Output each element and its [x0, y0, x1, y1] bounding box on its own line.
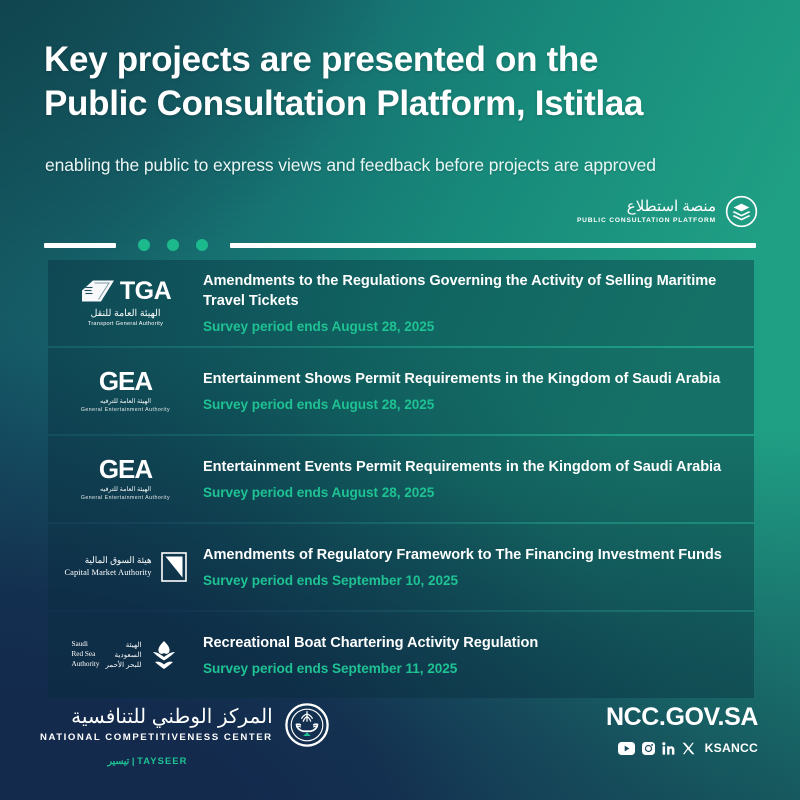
gea-wordmark: GEA	[99, 456, 152, 482]
project-row[interactable]: TGA الهيئة العامة للنقل Transport Genera…	[48, 260, 754, 346]
divider-dot	[138, 239, 150, 251]
entity-logo-cma: هيئة السوق المالية Capital Market Author…	[48, 552, 203, 582]
cma-english-name: Capital Market Authority	[64, 569, 151, 577]
social-links: KSANCC	[618, 741, 758, 755]
x-icon[interactable]	[682, 742, 695, 755]
divider-dots	[138, 239, 208, 251]
saudi-emblem-icon	[284, 702, 330, 748]
project-survey-period: Survey period ends September 10, 2025	[203, 573, 726, 588]
platform-logo-arabic: منصة استطلاع	[577, 199, 716, 214]
tayseer-label: تيسير | TAYSEER	[40, 755, 255, 767]
srsa-english-line: Red Sea	[72, 650, 96, 660]
divider	[44, 240, 756, 250]
project-survey-period: Survey period ends August 28, 2025	[203, 319, 726, 334]
gea-arabic-name: الهيئة العامة للترفيه	[100, 487, 151, 493]
tga-arabic-name: الهيئة العامة للنقل	[90, 309, 160, 319]
layers-circle-icon	[725, 195, 758, 228]
srsa-english-line: Saudi	[72, 640, 88, 650]
page-subtitle: enabling the public to express views and…	[45, 155, 765, 176]
footer-contact: NCC.GOV.SA KSA	[606, 703, 758, 755]
divider-bar-short	[44, 243, 116, 248]
project-body: Amendments to the Regulations Governing …	[203, 272, 754, 334]
tga-arrow-mark	[80, 278, 116, 304]
project-body: Amendments of Regulatory Framework to Th…	[203, 546, 754, 588]
project-row[interactable]: GEA الهيئة العامة للترفيه General Entert…	[48, 348, 754, 434]
ncc-arabic-name: المركز الوطني للتنافسية	[40, 707, 273, 727]
project-title: Recreational Boat Chartering Activity Re…	[203, 634, 726, 653]
project-body: Entertainment Shows Permit Requirements …	[203, 370, 754, 412]
gea-english-name: General Entertainment Authority	[81, 496, 170, 501]
platform-logo: منصة استطلاع PUBLIC CONSULTATION PLATFOR…	[577, 195, 758, 228]
cma-arabic-name: هيئة السوق المالية	[64, 556, 151, 565]
project-survey-period: Survey period ends September 11, 2025	[203, 661, 726, 676]
headline-line-1: Key projects are presented on the	[44, 40, 598, 79]
youtube-icon[interactable]	[618, 742, 635, 755]
srsa-arabic-line: للبحر الأحمر	[105, 660, 141, 670]
project-survey-period: Survey period ends August 28, 2025	[203, 485, 726, 500]
tga-english-name: Transport General Authority	[88, 322, 163, 328]
ncc-english-name: NATIONAL COMPETITIVENESS CENTER	[40, 733, 273, 743]
cma-square-mark	[161, 552, 187, 582]
srsa-arabic-line: الهيئة	[126, 640, 142, 650]
project-title: Amendments of Regulatory Framework to Th…	[203, 546, 726, 565]
headline-line-2: Public Consultation Platform, Istitlaa	[44, 82, 744, 126]
srsa-english-line: Authority	[72, 660, 100, 670]
project-survey-period: Survey period ends August 28, 2025	[203, 397, 726, 412]
srsa-arabic-line: السعودية	[115, 650, 142, 660]
ncc-logo: المركز الوطني للتنافسية NATIONAL COMPETI…	[40, 702, 330, 767]
gea-arabic-name: الهيئة العامة للترفيه	[100, 399, 151, 405]
entity-logo-gea: GEA الهيئة العامة للترفيه General Entert…	[48, 456, 203, 501]
platform-logo-english: PUBLIC CONSULTATION PLATFORM	[577, 218, 716, 225]
project-list: TGA الهيئة العامة للنقل Transport Genera…	[48, 260, 754, 698]
red-sea-wave-mark	[149, 639, 179, 671]
divider-dot	[167, 239, 179, 251]
social-handle: KSANCC	[705, 741, 758, 755]
website-url[interactable]: NCC.GOV.SA	[606, 703, 758, 732]
entity-logo-tga: TGA الهيئة العامة للنقل Transport Genera…	[48, 278, 203, 327]
linkedin-icon[interactable]	[662, 742, 675, 755]
entity-logo-gea: GEA الهيئة العامة للترفيه General Entert…	[48, 368, 203, 413]
divider-bar-long	[230, 243, 756, 248]
project-row[interactable]: Saudi الهيئة Red Sea السعودية Authority …	[48, 612, 754, 698]
platform-logo-text: منصة استطلاع PUBLIC CONSULTATION PLATFOR…	[577, 199, 716, 225]
project-title: Entertainment Shows Permit Requirements …	[203, 370, 726, 389]
project-title: Amendments to the Regulations Governing …	[203, 272, 726, 311]
instagram-icon[interactable]	[642, 742, 655, 755]
tga-wordmark: TGA	[120, 279, 171, 304]
project-row[interactable]: GEA الهيئة العامة للترفيه General Entert…	[48, 436, 754, 522]
project-body: Entertainment Events Permit Requirements…	[203, 458, 754, 500]
gea-wordmark: GEA	[99, 368, 152, 394]
page-title: Key projects are presented on the Public…	[44, 38, 744, 126]
divider-dot	[196, 239, 208, 251]
entity-logo-red-sea-authority: Saudi الهيئة Red Sea السعودية Authority …	[48, 639, 203, 671]
poster-canvas: Key projects are presented on the Public…	[0, 0, 800, 800]
project-body: Recreational Boat Chartering Activity Re…	[203, 634, 754, 676]
project-title: Entertainment Events Permit Requirements…	[203, 458, 726, 477]
gea-english-name: General Entertainment Authority	[81, 408, 170, 413]
project-row[interactable]: هيئة السوق المالية Capital Market Author…	[48, 524, 754, 610]
